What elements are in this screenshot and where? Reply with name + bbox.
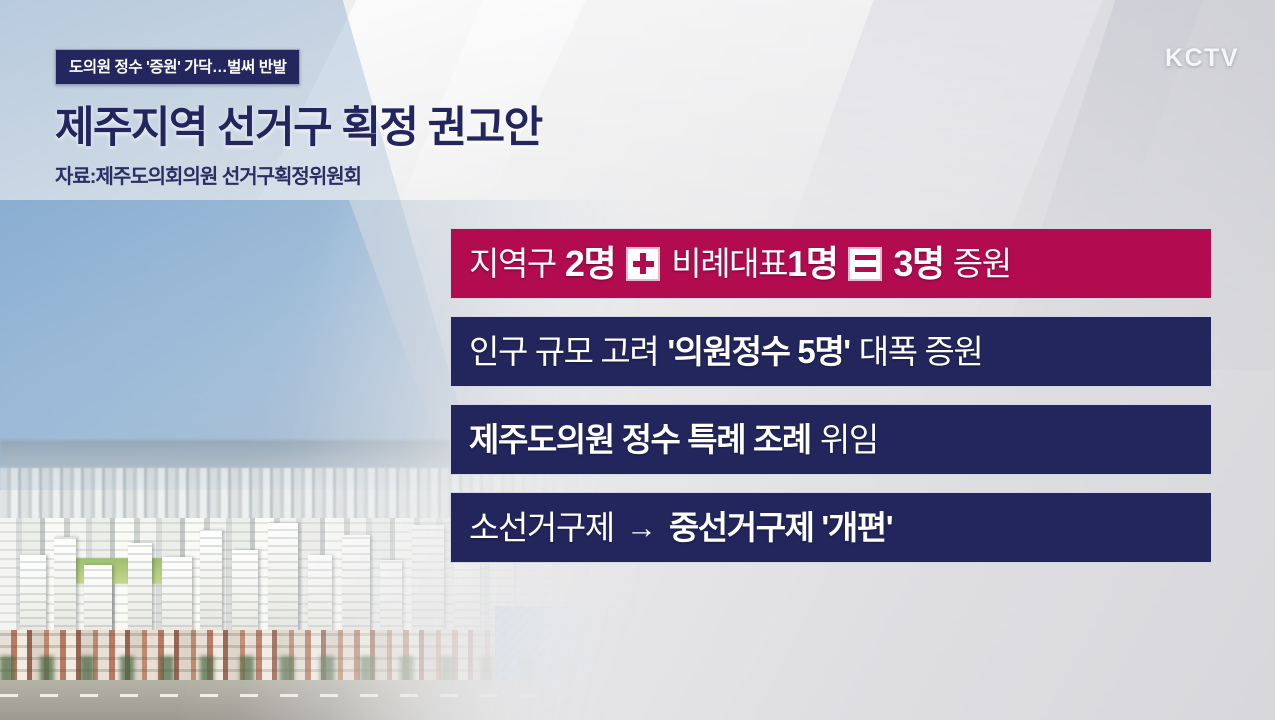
key-point-row-4: 소선거구제 → 중선거구제 '개편' bbox=[450, 492, 1212, 563]
key-point-row-3: 제주도의원 정수 특례 조례 위임 bbox=[450, 404, 1212, 475]
broadcast-graphic-stage: 도의원 정수 '증원' 가닥…벌써 반발 제주지역 선거구 획정 권고안 자료:… bbox=[0, 0, 1275, 720]
bar1-segment-3: 비례대표 bbox=[671, 247, 787, 280]
bar1-segment-2: 2명 bbox=[565, 246, 615, 282]
source-credit: 자료:제주도의회의원 선거구획정위원회 bbox=[55, 160, 361, 189]
equals-icon bbox=[848, 247, 882, 281]
bar3-segment-2: 위임 bbox=[820, 423, 878, 456]
bar3-segment-1: 제주도의원 정수 특례 조례 bbox=[469, 423, 811, 456]
bar2-segment-3: 대폭 증원 bbox=[859, 335, 983, 368]
kctv-logo: KCTV bbox=[1165, 44, 1239, 73]
arrow-right-icon: → bbox=[626, 510, 657, 546]
key-points-list: 지역구 2명 비례대표 1명 3명 증원 인구 규모 고려 '의원정수 5명' … bbox=[450, 228, 1212, 563]
bar4-segment-2: 중선거구제 '개편' bbox=[669, 511, 892, 544]
bar2-segment-2: '의원정수 5명' bbox=[667, 335, 849, 368]
bar1-segment-6: 증원 bbox=[953, 247, 1011, 280]
bar1-segment-1: 지역구 bbox=[469, 247, 556, 280]
kicker-badge: 도의원 정수 '증원' 가닥…벌써 반발 bbox=[55, 49, 300, 85]
plus-icon bbox=[626, 247, 660, 281]
bar2-segment-1: 인구 규모 고려 bbox=[469, 335, 658, 368]
bar4-segment-1: 소선거구제 bbox=[469, 511, 614, 544]
key-point-row-1: 지역구 2명 비례대표 1명 3명 증원 bbox=[450, 228, 1212, 299]
key-point-row-2: 인구 규모 고려 '의원정수 5명' 대폭 증원 bbox=[450, 316, 1212, 387]
bar1-segment-4: 1명 bbox=[787, 246, 837, 282]
bar1-segment-5: 3명 bbox=[893, 246, 943, 282]
page-title: 제주지역 선거구 획정 권고안 bbox=[55, 93, 542, 155]
